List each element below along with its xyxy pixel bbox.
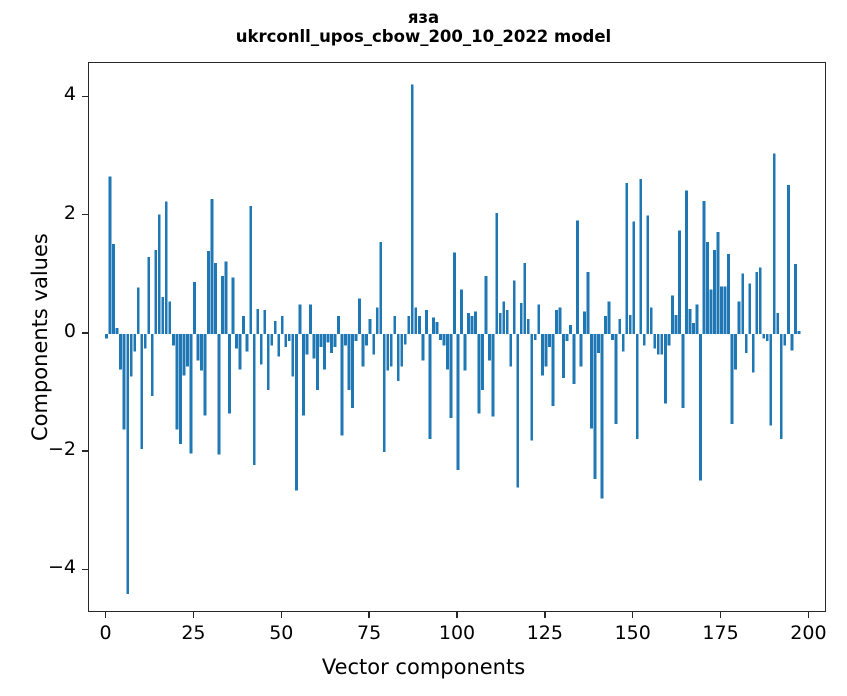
bar bbox=[608, 301, 611, 334]
bar bbox=[692, 323, 695, 334]
bar bbox=[639, 179, 642, 334]
bar bbox=[618, 319, 621, 334]
x-tick-mark bbox=[808, 612, 810, 618]
bar bbox=[235, 334, 238, 349]
plot-axes bbox=[88, 62, 826, 612]
x-axis-label: Vector components bbox=[0, 655, 847, 679]
bar bbox=[748, 284, 751, 334]
x-tick-mark bbox=[720, 612, 722, 618]
y-tick-label: −2 bbox=[0, 438, 76, 460]
bar bbox=[302, 334, 305, 416]
bar bbox=[397, 334, 400, 381]
bar bbox=[228, 334, 231, 414]
bar bbox=[355, 334, 358, 341]
bar bbox=[116, 328, 119, 334]
bar bbox=[523, 263, 526, 334]
bar bbox=[559, 307, 562, 334]
bar bbox=[492, 334, 495, 417]
bar bbox=[270, 334, 273, 346]
bar bbox=[682, 334, 685, 408]
bar bbox=[109, 177, 112, 334]
bar bbox=[151, 334, 154, 396]
bar bbox=[404, 334, 407, 345]
bar bbox=[218, 334, 221, 455]
bar bbox=[478, 334, 481, 414]
bar bbox=[351, 334, 354, 408]
bar bbox=[172, 334, 175, 346]
y-tick-label: 0 bbox=[0, 320, 76, 342]
bar bbox=[175, 334, 178, 430]
chart-title-line-1: яза bbox=[0, 8, 847, 27]
bar bbox=[386, 334, 389, 371]
bar bbox=[769, 334, 772, 426]
bar bbox=[759, 268, 762, 334]
bar bbox=[555, 310, 558, 334]
bar bbox=[537, 304, 540, 334]
bar bbox=[232, 278, 235, 334]
bar bbox=[453, 252, 456, 334]
bar bbox=[460, 290, 463, 334]
bar bbox=[773, 153, 776, 333]
bar bbox=[221, 276, 224, 334]
x-tick-mark bbox=[368, 612, 370, 618]
bar bbox=[168, 301, 171, 334]
bar bbox=[204, 334, 207, 416]
chart-title-line-2: ukrconll_upos_cbow_200_10_2022 model bbox=[0, 27, 847, 46]
bar bbox=[787, 185, 790, 334]
bar bbox=[305, 334, 308, 355]
bar bbox=[671, 295, 674, 333]
bar bbox=[369, 319, 372, 334]
bar bbox=[667, 334, 670, 346]
bar bbox=[165, 201, 168, 333]
bar bbox=[464, 334, 467, 371]
bar bbox=[225, 262, 228, 334]
bar bbox=[625, 183, 628, 334]
bar bbox=[207, 251, 210, 334]
bar bbox=[604, 316, 607, 334]
bar bbox=[348, 334, 351, 390]
y-tick-label: 4 bbox=[0, 83, 76, 105]
x-tick-mark bbox=[105, 612, 107, 618]
bar bbox=[323, 334, 326, 369]
bar bbox=[576, 220, 579, 334]
bar bbox=[516, 334, 519, 488]
bar bbox=[653, 334, 656, 349]
bar bbox=[267, 334, 270, 390]
bar bbox=[421, 334, 424, 361]
bar bbox=[590, 334, 593, 429]
bar bbox=[295, 334, 298, 491]
bar bbox=[320, 334, 323, 347]
bar bbox=[622, 334, 625, 352]
y-tick-mark bbox=[82, 332, 88, 334]
bar bbox=[573, 334, 576, 384]
bar bbox=[664, 334, 667, 404]
bar bbox=[126, 334, 129, 594]
bar bbox=[569, 325, 572, 334]
x-tick-label: 25 bbox=[153, 622, 233, 644]
bar bbox=[105, 334, 108, 339]
bar bbox=[580, 334, 583, 367]
bar bbox=[467, 313, 470, 334]
x-tick-label: 100 bbox=[417, 622, 497, 644]
bar bbox=[358, 298, 361, 333]
bar bbox=[246, 334, 249, 352]
bar bbox=[376, 307, 379, 334]
x-tick-mark bbox=[544, 612, 546, 618]
bar bbox=[337, 316, 340, 334]
bar bbox=[551, 334, 554, 406]
y-tick-mark bbox=[82, 569, 88, 571]
bar bbox=[256, 309, 259, 334]
bar bbox=[495, 213, 498, 334]
bar bbox=[425, 310, 428, 334]
bar bbox=[717, 232, 720, 334]
bar bbox=[450, 334, 453, 418]
bar bbox=[643, 334, 646, 346]
x-tick-label: 125 bbox=[505, 622, 585, 644]
bar bbox=[344, 334, 347, 346]
bar bbox=[330, 334, 333, 353]
bar bbox=[182, 334, 185, 375]
bar bbox=[794, 264, 797, 334]
bar bbox=[499, 313, 502, 334]
bar bbox=[594, 334, 597, 479]
bar bbox=[738, 301, 741, 334]
bar bbox=[242, 316, 245, 334]
x-tick-label: 0 bbox=[66, 622, 146, 644]
bar bbox=[790, 334, 793, 351]
bar bbox=[566, 334, 569, 341]
bar bbox=[288, 334, 291, 341]
bar bbox=[544, 334, 547, 367]
bar bbox=[706, 242, 709, 334]
x-tick-mark bbox=[632, 612, 634, 618]
bar bbox=[587, 272, 590, 334]
bar bbox=[365, 334, 368, 346]
plot-area bbox=[89, 63, 825, 611]
bar bbox=[646, 216, 649, 334]
bar bbox=[674, 315, 677, 334]
bar bbox=[313, 334, 316, 359]
bar bbox=[530, 334, 533, 440]
bar bbox=[393, 316, 396, 334]
bar bbox=[154, 250, 157, 334]
bar bbox=[650, 307, 653, 334]
bar bbox=[699, 334, 702, 481]
bar bbox=[309, 304, 312, 334]
bar bbox=[130, 334, 133, 377]
x-tick-mark bbox=[456, 612, 458, 618]
bar bbox=[446, 334, 449, 369]
bar bbox=[383, 334, 386, 452]
y-tick-label: 2 bbox=[0, 202, 76, 224]
bar bbox=[158, 214, 161, 333]
bar bbox=[214, 263, 217, 334]
bar-series bbox=[89, 63, 825, 611]
bar bbox=[211, 199, 214, 334]
bar bbox=[137, 288, 140, 334]
bar bbox=[710, 290, 713, 334]
bar bbox=[562, 334, 565, 378]
bar bbox=[372, 334, 375, 355]
bar bbox=[284, 334, 287, 347]
y-tick-mark bbox=[82, 96, 88, 98]
bar bbox=[277, 334, 280, 356]
bar bbox=[762, 334, 765, 339]
bar bbox=[291, 334, 294, 377]
bar bbox=[597, 334, 600, 353]
bar bbox=[678, 230, 681, 333]
bar bbox=[755, 272, 758, 334]
bar bbox=[407, 316, 410, 334]
bar bbox=[443, 334, 446, 346]
bar bbox=[414, 307, 417, 334]
bar bbox=[797, 331, 800, 334]
bar bbox=[752, 334, 755, 372]
bar bbox=[689, 309, 692, 334]
bar bbox=[583, 311, 586, 333]
bar bbox=[119, 334, 122, 369]
chart-title: яза ukrconll_upos_cbow_200_10_2022 model bbox=[0, 8, 847, 47]
bar bbox=[685, 191, 688, 334]
bar bbox=[724, 287, 727, 334]
bar bbox=[629, 315, 632, 334]
bar bbox=[527, 319, 530, 334]
bar bbox=[400, 334, 403, 367]
bar bbox=[327, 334, 330, 343]
x-tick-label: 75 bbox=[329, 622, 409, 644]
bar bbox=[474, 311, 477, 333]
bar bbox=[418, 316, 421, 334]
bar bbox=[281, 316, 284, 334]
bar bbox=[488, 334, 491, 361]
bar bbox=[534, 334, 537, 340]
bar bbox=[362, 334, 365, 367]
bar bbox=[186, 334, 189, 367]
bar bbox=[601, 334, 604, 498]
bar bbox=[766, 334, 769, 341]
bar bbox=[783, 334, 786, 346]
bar bbox=[660, 334, 663, 355]
bar bbox=[390, 334, 393, 367]
bar bbox=[776, 313, 779, 334]
bar bbox=[471, 316, 474, 334]
bar bbox=[509, 334, 512, 367]
bar bbox=[341, 334, 344, 436]
bar bbox=[197, 334, 200, 361]
bar bbox=[161, 297, 164, 334]
bar bbox=[780, 334, 783, 439]
figure: яза ukrconll_upos_cbow_200_10_2022 model… bbox=[0, 0, 847, 696]
bar bbox=[703, 201, 706, 334]
bar bbox=[734, 334, 737, 369]
bar bbox=[253, 334, 256, 465]
bar bbox=[506, 310, 509, 334]
bar bbox=[179, 334, 182, 444]
bar bbox=[263, 310, 266, 334]
bar bbox=[428, 334, 431, 439]
bar bbox=[411, 84, 414, 334]
bar bbox=[249, 206, 252, 334]
bar bbox=[439, 334, 442, 340]
bar bbox=[481, 334, 484, 390]
bar bbox=[112, 244, 115, 334]
bar bbox=[696, 304, 699, 334]
bar bbox=[741, 274, 744, 334]
bar bbox=[260, 334, 263, 365]
x-tick-mark bbox=[281, 612, 283, 618]
x-tick-label: 150 bbox=[593, 622, 673, 644]
bar bbox=[379, 242, 382, 334]
bar bbox=[731, 334, 734, 424]
bar bbox=[133, 334, 136, 352]
bar bbox=[123, 334, 126, 430]
y-tick-mark bbox=[82, 450, 88, 452]
bar bbox=[147, 257, 150, 334]
x-tick-mark bbox=[193, 612, 195, 618]
bar bbox=[316, 334, 319, 390]
bar bbox=[720, 287, 723, 334]
bar bbox=[611, 334, 614, 340]
bar bbox=[636, 334, 639, 439]
bar bbox=[436, 322, 439, 334]
bar bbox=[334, 334, 337, 347]
bar bbox=[548, 334, 551, 347]
bar bbox=[502, 301, 505, 334]
bar bbox=[745, 334, 748, 353]
bar bbox=[520, 303, 523, 334]
y-tick-label: −4 bbox=[0, 556, 76, 578]
bar bbox=[193, 282, 196, 334]
bar bbox=[713, 250, 716, 334]
bar bbox=[274, 321, 277, 334]
bar bbox=[727, 254, 730, 334]
x-tick-label: 50 bbox=[241, 622, 321, 644]
bar bbox=[657, 334, 660, 355]
bar bbox=[632, 221, 635, 333]
bar bbox=[200, 334, 203, 371]
bar bbox=[513, 281, 516, 334]
x-tick-label: 175 bbox=[681, 622, 761, 644]
bar bbox=[432, 317, 435, 334]
bar bbox=[144, 334, 147, 349]
bar bbox=[541, 334, 544, 375]
bar bbox=[140, 334, 143, 449]
bar bbox=[298, 304, 301, 334]
bar bbox=[615, 334, 618, 424]
bar bbox=[239, 334, 242, 369]
bar bbox=[190, 334, 193, 453]
y-tick-mark bbox=[82, 214, 88, 216]
x-tick-label: 200 bbox=[768, 622, 847, 644]
bar bbox=[457, 334, 460, 470]
bar bbox=[485, 276, 488, 334]
